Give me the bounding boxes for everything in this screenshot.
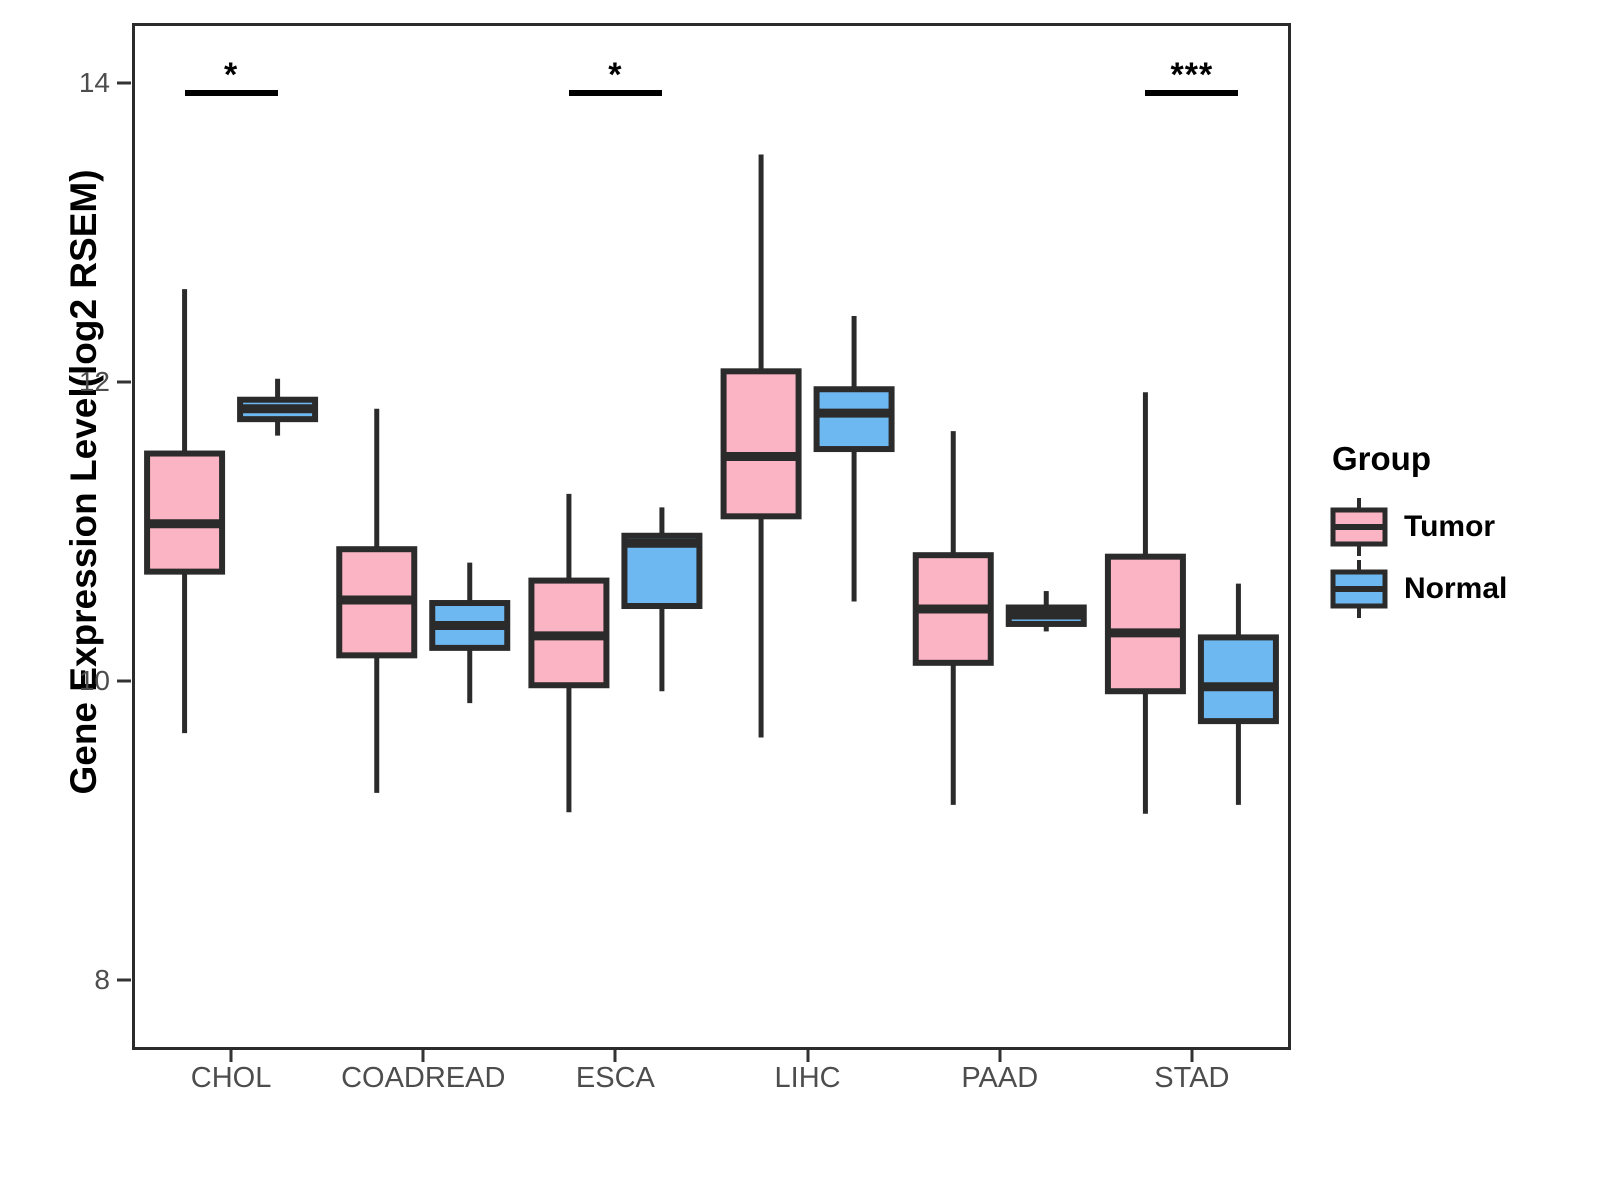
y-axis-tick-mark [117,81,131,84]
x-axis-tick-label-chol: CHOL [191,1062,272,1095]
y-axis-title: Gene Expression Level(log2 RSEM) [54,102,114,862]
boxplot-paad-normal [1009,591,1084,631]
x-axis-tick-label-paad: PAAD [961,1062,1038,1095]
legend-label: Tumor [1404,510,1495,544]
boxplot-coadread-normal [432,563,507,704]
legend-key-normal-icon [1330,558,1388,620]
x-axis-tick-mark [1190,1050,1193,1062]
y-axis-tick-mark [117,380,131,383]
y-axis-tick-mark [117,978,131,981]
boxplot-coadread-tumor [339,409,414,793]
x-axis-tick-label-esca: ESCA [576,1062,655,1095]
boxplot-paad-tumor [916,431,991,805]
x-axis-tick-label-lihc: LIHC [775,1062,841,1095]
x-axis-tick-label-stad: STAD [1154,1062,1229,1095]
box-rect [1201,637,1276,721]
legend-item-tumor[interactable]: Tumor [1330,496,1590,558]
x-axis-tick-mark [806,1050,809,1062]
box-rect [1108,557,1183,692]
boxplot-canvas [135,26,1288,1047]
legend-title: Group [1332,440,1590,478]
box-rect [817,389,892,449]
x-axis-tick-mark [230,1050,233,1062]
boxplot-stad-tumor [1108,392,1183,814]
box-rect [147,454,222,572]
x-axis-tick-mark [422,1050,425,1062]
boxplot-lihc-tumor [724,155,799,738]
significance-label-esca: * [608,58,622,92]
y-axis-tick-label: 8 [50,964,110,996]
y-axis-tick-label: 14 [50,67,110,99]
y-axis-tick-label: 12 [50,366,110,398]
significance-label-stad: *** [1171,58,1214,92]
x-axis-tick-label-coadread: COADREAD [341,1062,505,1095]
box-rect [724,371,799,516]
legend-key-tumor-icon [1330,496,1388,558]
plot-panel [132,23,1291,1050]
y-axis-tick-label: 10 [50,665,110,697]
legend-items: TumorNormal [1330,496,1590,620]
legend-item-normal[interactable]: Normal [1330,558,1590,620]
legend: Group TumorNormal [1330,440,1590,620]
x-axis-tick-mark [614,1050,617,1062]
boxplot-esca-tumor [531,494,606,812]
boxplot-lihc-normal [817,316,892,602]
boxplot-esca-normal [624,507,699,691]
significance-label-chol: * [224,58,238,92]
y-axis-tick-mark [117,679,131,682]
boxplot-stad-normal [1201,584,1276,805]
legend-label: Normal [1404,572,1507,606]
x-axis-tick-mark [998,1050,1001,1062]
boxplot-chol-normal [240,379,315,436]
boxplot-chol-tumor [147,289,222,733]
chart-root: Gene Expression Level(log2 RSEM) 1412108… [0,0,1600,1200]
